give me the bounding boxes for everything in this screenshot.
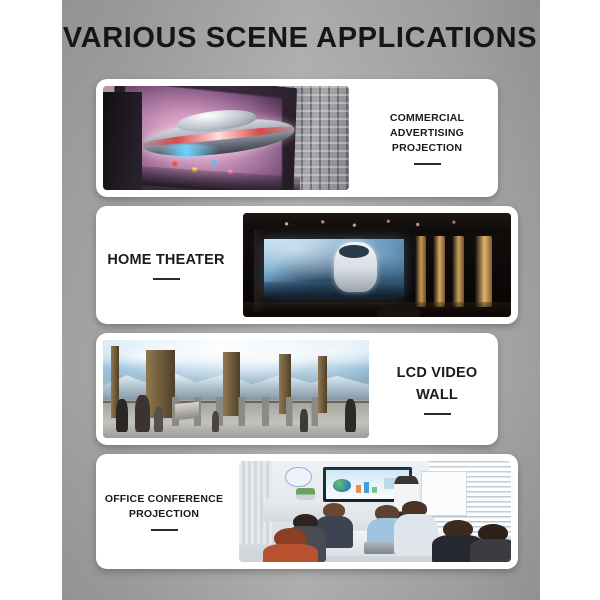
scene-card-text: LCD VIDEO WALL [376, 333, 498, 445]
wood-panel [433, 236, 445, 307]
theater-seat [377, 307, 420, 317]
page-title: VARIOUS SCENE APPLICATIONS [0, 22, 600, 55]
person-body [470, 539, 511, 562]
home-theater-astronaut-screen-photo [243, 213, 511, 317]
scene-card-text: OFFICE CONFERENCE PROJECTION [96, 454, 232, 569]
wall-clock [285, 467, 311, 487]
ceiling-spotlights [264, 218, 489, 230]
accent-underline [153, 278, 180, 280]
scene-card-label-line1: OFFICE CONFERENCE [105, 493, 223, 505]
wood-panel [475, 236, 492, 307]
person-figure [300, 409, 308, 433]
scene-card-label: COMMERCIAL ADVERTISING PROJECTION [364, 111, 490, 157]
accent-underline [424, 413, 451, 415]
laptop [364, 542, 394, 554]
scene-card-label-line1: COMMERCIAL ADVERTISING [390, 112, 464, 139]
person-body [263, 544, 317, 562]
scene-card-label: HOME THEATER [107, 250, 224, 271]
bar-chart-graphic [356, 480, 378, 493]
person-figure [154, 407, 164, 432]
scene-card-office-conference[interactable]: OFFICE CONFERENCE PROJECTION [96, 454, 518, 569]
scene-card-label-line2: PROJECTION [392, 142, 462, 154]
poster-root: VARIOUS SCENE APPLICATIONS COMMERCIAL AD… [0, 0, 600, 600]
globe-graphic [333, 479, 351, 492]
info-kiosk [175, 401, 199, 419]
wood-panel [415, 236, 427, 307]
person-figure [345, 399, 356, 432]
scene-card-label: OFFICE CONFERENCE PROJECTION [105, 492, 223, 522]
scene-card-text: HOME THEATER [96, 206, 236, 324]
accent-underline [151, 529, 178, 531]
office-conference-meeting-photo [239, 461, 511, 562]
accent-underline [414, 163, 441, 165]
scene-card-text: COMMERCIAL ADVERTISING PROJECTION [356, 79, 498, 197]
potted-plant [296, 488, 315, 500]
lcd-video-wall-lobby-photo [103, 340, 369, 438]
person-figure [212, 411, 219, 433]
dark-column [103, 92, 142, 190]
scene-card-label-line2: PROJECTION [129, 508, 199, 520]
person-body [394, 514, 438, 554]
scene-card-commercial-advertising[interactable]: COMMERCIAL ADVERTISING PROJECTION [96, 79, 498, 197]
whiteboard [421, 471, 467, 515]
scene-card-label: LCD VIDEO WALL [384, 363, 490, 405]
person-figure [135, 395, 150, 432]
wood-panel [452, 236, 464, 307]
astronaut-visor [339, 245, 368, 257]
planet-surface [264, 282, 403, 297]
scene-card-home-theater[interactable]: HOME THEATER [96, 206, 518, 324]
person-figure [116, 399, 128, 432]
outdoor-led-billboard-ufo-photo [103, 86, 349, 190]
scene-card-lcd-video-wall[interactable]: LCD VIDEO WALL [96, 333, 498, 445]
